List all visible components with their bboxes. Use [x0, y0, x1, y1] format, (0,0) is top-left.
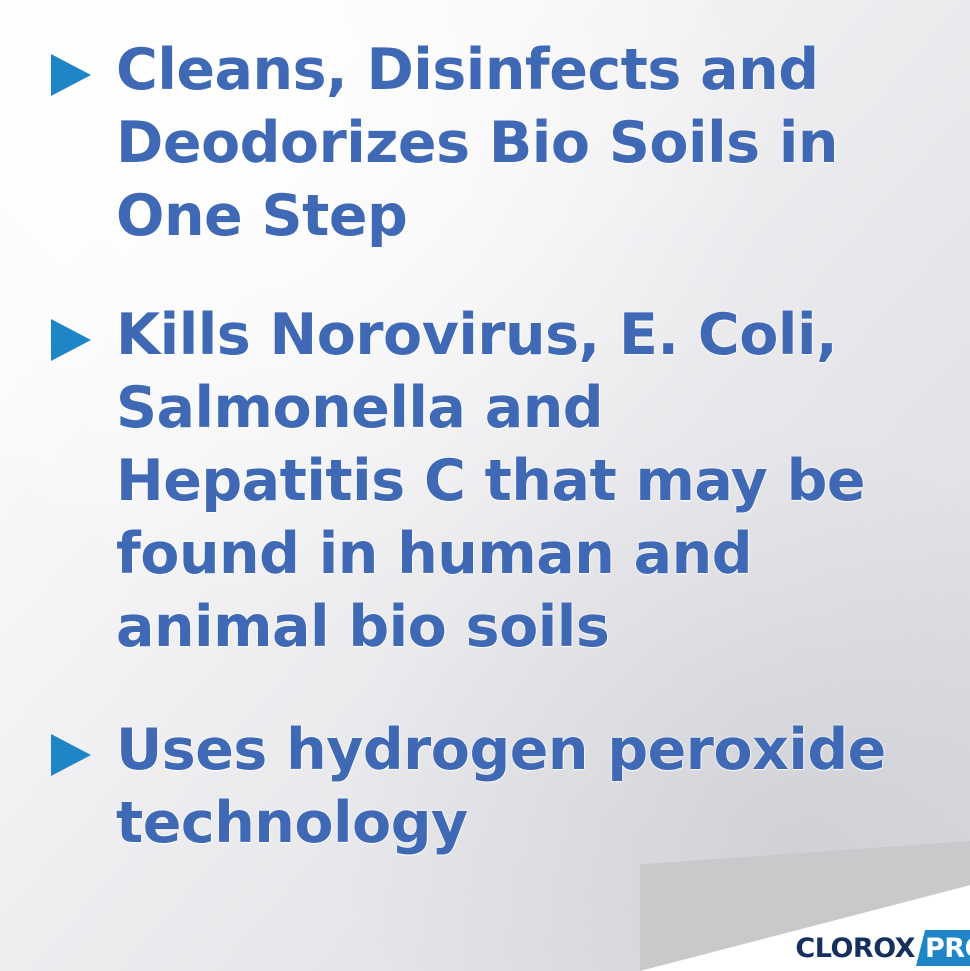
- triangle-right-icon: [48, 317, 94, 363]
- benefit-text: Uses hydrogen peroxide technology: [116, 714, 948, 860]
- benefit-text: Cleans, Disinfects and Deodorizes Bio So…: [116, 34, 948, 253]
- brand-corner: CLOROX PRO: [640, 841, 970, 971]
- product-benefits-poster: Cleans, Disinfects and Deodorizes Bio So…: [0, 0, 970, 971]
- brand-wordmark: CLOROX: [795, 935, 915, 962]
- clorox-pro-logo: CLOROX PRO: [795, 931, 970, 965]
- triangle-right-icon: [48, 52, 94, 98]
- benefit-item: Cleans, Disinfects and Deodorizes Bio So…: [48, 34, 948, 253]
- benefit-text: Kills Norovirus, E. Coli, Salmonella and…: [116, 299, 948, 664]
- triangle-right-icon: [48, 732, 94, 778]
- benefit-item: Kills Norovirus, E. Coli, Salmonella and…: [48, 299, 948, 664]
- brand-pro-label: PRO: [916, 935, 970, 962]
- benefit-item: Uses hydrogen peroxide technology: [48, 714, 948, 860]
- brand-pro-badge: PRO: [916, 930, 970, 966]
